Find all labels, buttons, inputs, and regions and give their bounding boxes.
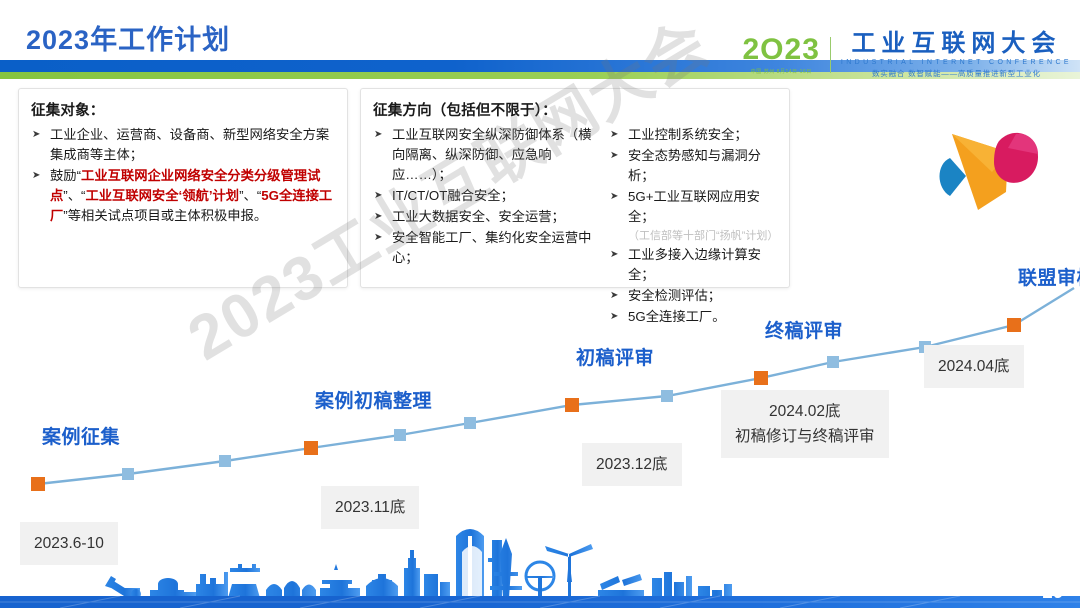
logo-divider — [830, 37, 831, 73]
milestone-date-chip: 2024.04底 — [924, 345, 1024, 388]
conference-name-en: INDUSTRIAL INTERNET CONFERENCE — [841, 59, 1072, 66]
bullet-item: 安全智能工厂、集约化安全运营中心； — [373, 228, 603, 268]
timeline-interval-marker — [827, 356, 839, 368]
timeline-chart: 案例征集2023.6-10案例初稿整理2023.11底初稿评审2023.12底终… — [0, 270, 1080, 530]
brand-mark-logo — [930, 112, 1050, 232]
timeline-milestone-marker[interactable] — [31, 477, 45, 491]
milestone-title: 联盟审核 — [1018, 263, 1080, 290]
slide-canvas: 2023年工作计划 2O23 中国·苏州 8月14日-16日 工业互联网大会 I… — [0, 0, 1080, 608]
bullet-item: 工业企业、运营商、设备商、新型网络安全方案集成商等主体； — [31, 125, 337, 165]
bullet-item: 5G+工业互联网应用安全； — [609, 187, 779, 227]
bullet-text: ”、“ — [239, 188, 261, 203]
milestone-title: 初稿评审 — [576, 343, 654, 370]
timeline-milestone-marker[interactable] — [754, 371, 768, 385]
panel-collection-targets: 征集对象： 工业企业、运营商、设备商、新型网络安全方案集成商等主体；鼓励“工业互… — [18, 88, 348, 288]
timeline-interval-marker — [464, 417, 476, 429]
milestone-title: 案例征集 — [42, 422, 120, 449]
panel-right-title: 征集方向（包括但不限于）： — [373, 99, 779, 120]
milestone-title: 终稿评审 — [765, 316, 843, 343]
bullet-item: 安全态势感知与漏洞分析； — [609, 146, 779, 186]
bullet-item: 鼓励“工业互联网企业网络安全分类分级管理试点”、“工业互联网安全‘领航’计划”、… — [31, 166, 337, 226]
conference-year-block: 2O23 中国·苏州 8月14日-16日 — [742, 35, 819, 75]
skyline-silhouette — [105, 529, 732, 599]
bullet-text: 鼓励“ — [50, 168, 81, 183]
bullet-text: ”、“ — [63, 188, 85, 203]
milestone-date-chip: 2024.02底初稿修订与终稿评审 — [721, 390, 889, 458]
timeline-interval-marker — [122, 468, 134, 480]
timeline-milestone-marker[interactable] — [565, 398, 579, 412]
direction-note: （工信部等十部门“扬帆”计划） — [609, 228, 779, 245]
milestone-date: 2024.04底 — [938, 354, 1010, 379]
panel-left-title: 征集对象： — [31, 99, 337, 120]
direction-list-right-top: 工业控制系统安全；安全态势感知与漏洞分析；5G+工业互联网应用安全； — [609, 125, 779, 227]
skyline-graphic — [0, 528, 1080, 608]
highlighted-text: 工业互联网安全‘领航’计划 — [85, 188, 239, 203]
timeline-svg — [0, 270, 1080, 530]
conference-slogan: 数实融合 数智赋能——高质量推进新型工业化 — [841, 68, 1072, 79]
direction-list-left: 工业互联网安全纵深防御体系（横向隔离、纵深防御、应急响应……）；IT/CT/OT… — [373, 125, 603, 268]
conference-year-subtitle: 中国·苏州 8月14日-16日 — [742, 68, 819, 75]
milestone-date: 2023.11底 — [335, 495, 405, 520]
bullet-item: IT/CT/OT融合安全； — [373, 186, 603, 206]
bullet-text: ”等相关试点项目或主体积极申报。 — [63, 208, 267, 223]
timeline-interval-marker — [219, 455, 231, 467]
conference-name-block: 工业互联网大会 INDUSTRIAL INTERNET CONFERENCE 数… — [841, 32, 1072, 79]
milestone-date: 2023.12底 — [596, 452, 668, 477]
timeline-milestone-marker[interactable] — [304, 441, 318, 455]
timeline-interval-marker — [661, 390, 673, 402]
page-title: 2023年工作计划 — [26, 18, 230, 57]
conference-name-cn: 工业互联网大会 — [841, 32, 1072, 56]
bullet-text: 工业企业、运营商、设备商、新型网络安全方案集成商等主体； — [50, 127, 329, 162]
conference-year: 2O23 — [742, 35, 819, 65]
panel-collection-directions: 征集方向（包括但不限于）： 工业互联网安全纵深防御体系（横向隔离、纵深防御、应急… — [360, 88, 790, 288]
milestone-title: 案例初稿整理 — [315, 386, 432, 413]
timeline-curve — [38, 288, 1074, 484]
page-number: 19 — [1042, 582, 1064, 604]
milestone-date-chip: 2023.12底 — [582, 443, 682, 486]
timeline-milestone-marker[interactable] — [1007, 318, 1021, 332]
milestone-date: 2024.02底 — [735, 399, 875, 424]
milestone-detail: 初稿修订与终稿评审 — [735, 424, 875, 449]
milestone-date-chip: 2023.11底 — [321, 486, 419, 529]
bullet-item: 工业大数据安全、安全运营； — [373, 207, 603, 227]
timeline-interval-marker — [394, 429, 406, 441]
bullet-item: 工业互联网安全纵深防御体系（横向隔离、纵深防御、应急响应……）； — [373, 125, 603, 185]
conference-logo: 2O23 中国·苏州 8月14日-16日 工业互联网大会 INDUSTRIAL … — [742, 32, 1072, 78]
panel-left-bullet-list: 工业企业、运营商、设备商、新型网络安全方案集成商等主体；鼓励“工业互联网企业网络… — [31, 125, 337, 226]
bullet-item: 工业控制系统安全； — [609, 125, 779, 145]
